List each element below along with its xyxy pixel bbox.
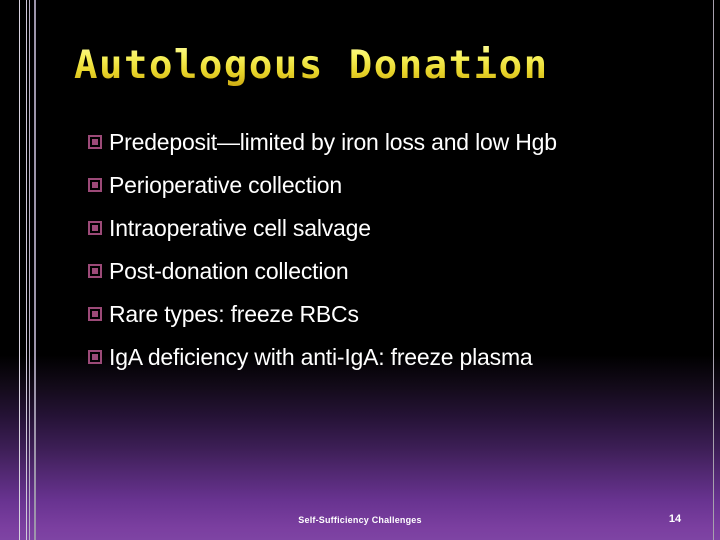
list-item-label: Perioperative collection bbox=[109, 171, 698, 199]
bullet-list: Predeposit—limited by iron loss and low … bbox=[88, 128, 698, 386]
left-rule-1 bbox=[19, 0, 20, 540]
list-item: Rare types: freeze RBCs bbox=[88, 300, 698, 343]
list-item: Post-donation collection bbox=[88, 257, 698, 300]
square-bullet-icon bbox=[88, 307, 102, 321]
left-border-rules bbox=[0, 0, 60, 540]
list-item-label: Intraoperative cell salvage bbox=[109, 214, 698, 242]
list-item-label: Rare types: freeze RBCs bbox=[109, 300, 698, 328]
left-rule-2 bbox=[26, 0, 27, 540]
list-item-label: Post-donation collection bbox=[109, 257, 698, 285]
list-item-label: Predeposit—limited by iron loss and low … bbox=[109, 128, 698, 156]
square-bullet-icon bbox=[88, 350, 102, 364]
list-item: Intraoperative cell salvage bbox=[88, 214, 698, 257]
list-item: Predeposit—limited by iron loss and low … bbox=[88, 128, 698, 171]
square-bullet-icon bbox=[88, 178, 102, 192]
footer-page-number: 14 bbox=[650, 513, 700, 525]
left-rule-3 bbox=[29, 0, 30, 540]
left-rule-4 bbox=[34, 0, 36, 540]
slide-canvas: Autologous Donation Predeposit—limited b… bbox=[0, 0, 720, 540]
list-item: IgA deficiency with anti-IgA: freeze pla… bbox=[88, 343, 698, 386]
footer-deck-title: Self-Sufficiency Challenges bbox=[0, 515, 720, 525]
square-bullet-icon bbox=[88, 264, 102, 278]
square-bullet-icon bbox=[88, 221, 102, 235]
list-item: Perioperative collection bbox=[88, 171, 698, 214]
slide-title: Autologous Donation bbox=[74, 43, 549, 89]
square-bullet-icon bbox=[88, 135, 102, 149]
list-item-label: IgA deficiency with anti-IgA: freeze pla… bbox=[109, 343, 698, 371]
right-border-rule bbox=[713, 0, 714, 540]
